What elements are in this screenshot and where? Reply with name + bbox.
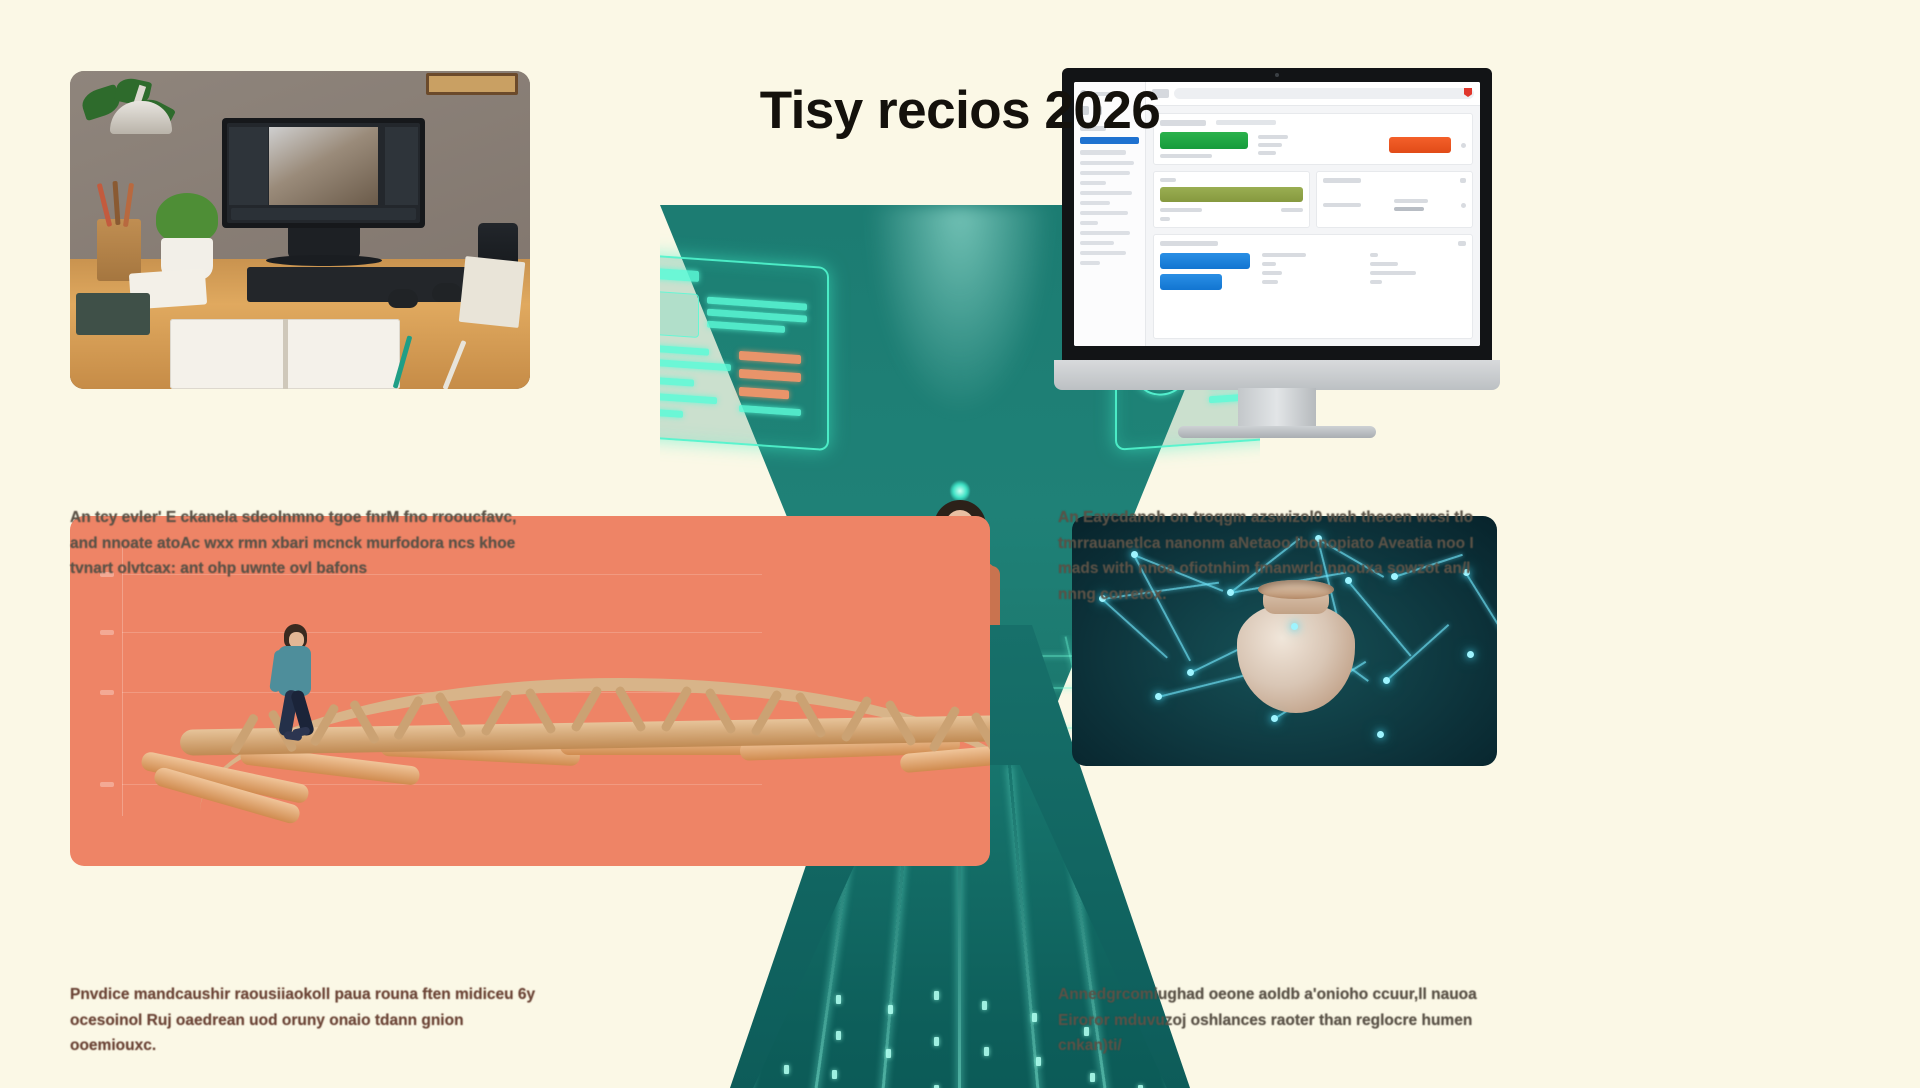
caption-top-left: An tcy evler' E ckanela sdeolnmno tgoe f… bbox=[70, 505, 530, 582]
mouse bbox=[432, 283, 462, 302]
monitor-base bbox=[266, 255, 382, 266]
sidebar-item[interactable] bbox=[1080, 150, 1126, 155]
primary-action-button[interactable] bbox=[1389, 137, 1451, 153]
page-title: Tisy recios 2026 bbox=[660, 80, 1260, 141]
wooden-bridge bbox=[180, 604, 990, 844]
network-node bbox=[1383, 677, 1390, 684]
dashboard-card[interactable] bbox=[1153, 171, 1310, 228]
network-node bbox=[1467, 651, 1474, 658]
pencil-cup bbox=[97, 219, 141, 281]
network-node bbox=[1377, 731, 1384, 738]
book-stack bbox=[76, 293, 150, 335]
caption-bottom-right: Annedgrcomiughad oeone aoldb a'onioho cc… bbox=[1058, 982, 1508, 1059]
sidebar-item[interactable] bbox=[1080, 171, 1130, 175]
caption-top-right: An Eaycdanoh on troqgm azswizol0 wah the… bbox=[1058, 505, 1498, 607]
network-node bbox=[1291, 623, 1298, 630]
poster-canvas: Tisy recios 2026 An tcy evler' E ckanela… bbox=[0, 0, 1920, 1088]
chart-axis bbox=[122, 546, 123, 816]
open-book bbox=[170, 319, 400, 389]
hologram-document-panel bbox=[660, 253, 829, 451]
sidebar-item[interactable] bbox=[1080, 251, 1126, 255]
network-node bbox=[1155, 693, 1162, 700]
sidebar-item[interactable] bbox=[1080, 191, 1132, 195]
status-bar-blue-secondary bbox=[1160, 274, 1222, 290]
sidebar-item[interactable] bbox=[1080, 241, 1114, 245]
mouse bbox=[388, 289, 418, 308]
webcam-icon bbox=[1275, 73, 1279, 77]
sidebar-item[interactable] bbox=[1080, 181, 1106, 185]
imac-stand-foot bbox=[1178, 426, 1376, 438]
network-node bbox=[1187, 669, 1194, 676]
sidebar-item[interactable] bbox=[1080, 221, 1098, 225]
paper-stack bbox=[459, 256, 526, 328]
potted-plant bbox=[156, 193, 218, 243]
imac-chin bbox=[1054, 360, 1500, 390]
desk-workspace-photo bbox=[70, 71, 530, 389]
status-bar-olive bbox=[1160, 187, 1303, 202]
caption-bottom-left: Pnvdice mandcaushir raousiiaokoll paua r… bbox=[70, 982, 540, 1059]
wall-frame bbox=[426, 73, 518, 95]
sidebar-item[interactable] bbox=[1080, 161, 1134, 165]
network-node bbox=[1271, 715, 1278, 722]
status-bar-blue bbox=[1160, 253, 1250, 269]
sidebar-item[interactable] bbox=[1080, 211, 1128, 215]
sidebar-item[interactable] bbox=[1080, 261, 1100, 265]
dashboard-card[interactable] bbox=[1316, 171, 1473, 228]
desktop-monitor bbox=[222, 118, 425, 228]
sidebar-item[interactable] bbox=[1080, 231, 1130, 235]
dashboard-card[interactable] bbox=[1153, 234, 1473, 339]
walking-person bbox=[270, 624, 318, 742]
imac-stand-neck bbox=[1238, 388, 1316, 430]
beam-node bbox=[950, 480, 970, 502]
sidebar-item[interactable] bbox=[1080, 201, 1110, 205]
